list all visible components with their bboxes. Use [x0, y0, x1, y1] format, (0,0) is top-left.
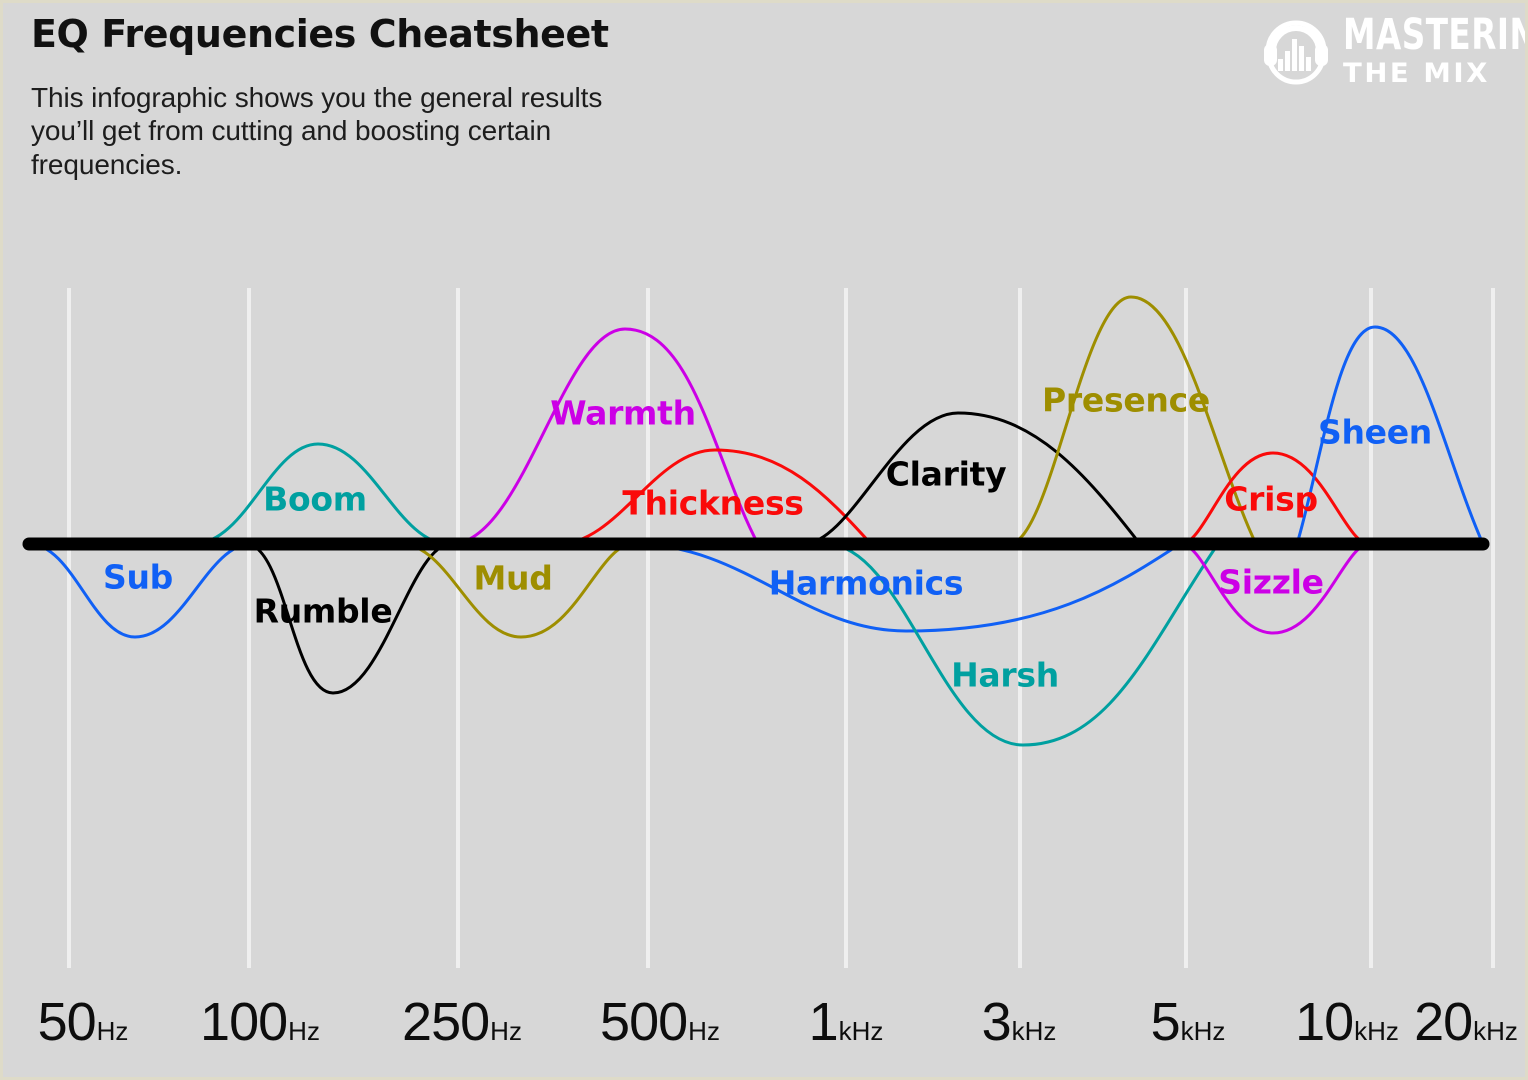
axis-tick-value: 3 — [982, 995, 1011, 1049]
label-thickness: Thickness — [622, 484, 803, 523]
axis-tick-1khz: 1 kHz — [809, 995, 884, 1049]
axis-tick-unit: kHz — [1473, 1018, 1518, 1044]
axis-tick-unit: Hz — [490, 1018, 522, 1044]
label-clarity: Clarity — [886, 455, 1007, 494]
axis-tick-500hz: 500 Hz — [600, 995, 720, 1049]
label-warmth: Warmth — [550, 394, 696, 433]
label-mud: Mud — [473, 559, 552, 598]
axis-tick-value: 500 — [600, 995, 687, 1049]
curve-presence — [1009, 297, 1256, 544]
axis-tick-value: 10 — [1295, 995, 1353, 1049]
label-rumble: Rumble — [254, 592, 393, 631]
axis-tick-unit: kHz — [1012, 1018, 1057, 1044]
axis-tick-value: 1 — [809, 995, 838, 1049]
axis-tick-value: 50 — [38, 995, 96, 1049]
label-harmonics: Harmonics — [769, 564, 964, 603]
axis-tick-250hz: 250 Hz — [402, 995, 522, 1049]
axis-tick-value: 20 — [1414, 995, 1472, 1049]
axis-tick-value: 250 — [402, 995, 489, 1049]
eq-chart — [3, 3, 1528, 1080]
axis-tick-3khz: 3 kHz — [982, 995, 1057, 1049]
axis-tick-100hz: 100 Hz — [200, 995, 320, 1049]
label-sub: Sub — [103, 558, 173, 597]
axis-tick-unit: Hz — [288, 1018, 320, 1044]
label-harsh: Harsh — [951, 656, 1059, 695]
axis-tick-10khz: 10 kHz — [1295, 995, 1399, 1049]
axis-tick-unit: Hz — [97, 1018, 129, 1044]
label-sheen: Sheen — [1318, 413, 1432, 452]
axis-tick-20khz: 20 kHz — [1414, 995, 1518, 1049]
label-presence: Presence — [1042, 381, 1210, 420]
axis-tick-50hz: 50 Hz — [38, 995, 129, 1049]
axis-tick-5khz: 5 kHz — [1151, 995, 1226, 1049]
label-boom: Boom — [263, 480, 367, 519]
axis-tick-unit: kHz — [839, 1018, 884, 1044]
label-crisp: Crisp — [1224, 480, 1318, 519]
axis-tick-unit: Hz — [688, 1018, 720, 1044]
axis-tick-unit: kHz — [1354, 1018, 1399, 1044]
label-sizzle: Sizzle — [1218, 563, 1323, 602]
axis-tick-unit: kHz — [1181, 1018, 1226, 1044]
infographic-page: EQ Frequencies Cheatsheet This infograph… — [0, 0, 1528, 1080]
axis-tick-value: 100 — [200, 995, 287, 1049]
axis-tick-value: 5 — [1151, 995, 1180, 1049]
